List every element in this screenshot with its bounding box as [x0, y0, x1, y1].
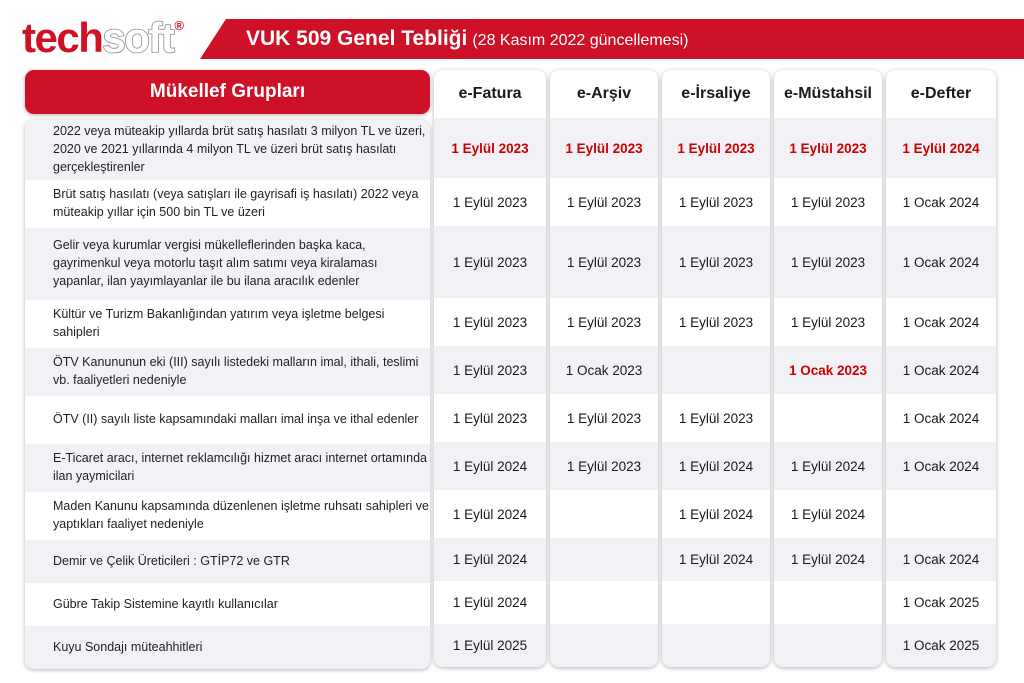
logo-text-tech: tech — [22, 17, 102, 59]
date-cell — [662, 346, 770, 394]
date-cell — [662, 581, 770, 624]
column-e-defter: e-Defter 1 Eylül 20241 Ocak 20241 Ocak 2… — [886, 70, 996, 667]
date-cell: 1 Eylül 2023 — [434, 226, 546, 298]
table-row: E-Ticaret aracı, internet reklamcılığı h… — [25, 444, 430, 492]
date-cell: 1 Eylül 2023 — [434, 298, 546, 346]
date-cell: 1 Ocak 2023 — [774, 346, 882, 394]
title-banner: VUK 509 Genel Tebliği(28 Kasım 2022 günc… — [200, 19, 1024, 59]
date-cell — [550, 490, 658, 538]
group-label: 2022 veya müteakip yıllarda brüt satış h… — [53, 123, 430, 176]
date-cell: 1 Eylül 2023 — [774, 298, 882, 346]
date-cell: 1 Eylül 2024 — [662, 538, 770, 581]
date-cell: 1 Eylül 2024 — [662, 490, 770, 538]
cells-e-mustahsil: 1 Eylül 20231 Eylül 20231 Eylül 20231 Ey… — [774, 118, 882, 667]
registered-mark-icon: ® — [174, 19, 182, 32]
table-row: Demir ve Çelik Üreticileri : GTİP72 ve G… — [25, 540, 430, 583]
column-header-e-irsaliye: e-İrsaliye — [662, 70, 770, 118]
column-card-e-defter: e-Defter 1 Eylül 20241 Ocak 20241 Ocak 2… — [886, 70, 996, 667]
column-e-arsiv: e-Arşiv 1 Eylül 20231 Eylül 20231 Eylül … — [550, 70, 658, 667]
techsoft-logo: techsoft® — [22, 17, 182, 57]
cells-e-fatura: 1 Eylül 20231 Eylül 20231 Eylül 20231 Ey… — [434, 118, 546, 667]
cells-e-arsiv: 1 Eylül 20231 Eylül 20231 Eylül 20231 Ey… — [550, 118, 658, 667]
page-title-main: VUK 509 Genel Tebliği — [246, 27, 467, 50]
table-row: Kuyu Sondajı müteahhitleri — [25, 626, 430, 669]
date-cell: 1 Ocak 2023 — [550, 346, 658, 394]
date-cell: 1 Eylül 2023 — [434, 178, 546, 226]
date-cell: 1 Eylül 2024 — [434, 538, 546, 581]
column-header-e-defter: e-Defter — [886, 70, 996, 118]
group-label: E-Ticaret aracı, internet reklamcılığı h… — [53, 450, 430, 486]
date-cell: 1 Ocak 2024 — [886, 346, 996, 394]
group-label: ÖTV (II) sayılı liste kapsamındaki malla… — [53, 411, 418, 429]
column-header-mukellef-gruplari: Mükellef Grupları — [25, 70, 430, 114]
table-row: 2022 veya müteakip yıllarda brüt satış h… — [25, 120, 430, 180]
column-header-e-mustahsil: e-Müstahsil — [774, 70, 882, 118]
group-label: Brüt satış hasılatı (veya satışları ile … — [53, 186, 430, 222]
date-cell — [662, 624, 770, 667]
date-cell — [774, 581, 882, 624]
date-cell: 1 Eylül 2024 — [434, 581, 546, 624]
column-header-e-arsiv: e-Arşiv — [550, 70, 658, 118]
cells-e-irsaliye: 1 Eylül 20231 Eylül 20231 Eylül 20231 Ey… — [662, 118, 770, 667]
date-cell: 1 Ocak 2024 — [886, 298, 996, 346]
date-cell: 1 Eylül 2023 — [434, 118, 546, 178]
date-cell: 1 Eylül 2023 — [662, 118, 770, 178]
date-cell — [774, 394, 882, 442]
date-cell: 1 Eylül 2024 — [774, 490, 882, 538]
column-card-e-irsaliye: e-İrsaliye 1 Eylül 20231 Eylül 20231 Eyl… — [662, 70, 770, 667]
column-card-e-mustahsil: e-Müstahsil 1 Eylül 20231 Eylül 20231 Ey… — [774, 70, 882, 667]
group-label: Gübre Takip Sistemine kayıtlı kullanıcıl… — [53, 596, 278, 614]
table-row: Brüt satış hasılatı (veya satışları ile … — [25, 180, 430, 228]
date-cell: 1 Eylül 2024 — [774, 442, 882, 490]
date-cell: 1 Eylül 2023 — [774, 178, 882, 226]
group-label: Demir ve Çelik Üreticileri : GTİP72 ve G… — [53, 553, 290, 571]
group-label: ÖTV Kanununun eki (III) sayılı listedeki… — [53, 354, 430, 390]
group-label: Kültür ve Turizm Bakanlığından yatırım v… — [53, 306, 430, 342]
date-cell: 1 Ocak 2024 — [886, 178, 996, 226]
column-card-e-fatura: e-Fatura 1 Eylül 20231 Eylül 20231 Eylül… — [434, 70, 546, 667]
date-cell — [550, 581, 658, 624]
date-cell — [550, 538, 658, 581]
table-row: Gübre Takip Sistemine kayıtlı kullanıcıl… — [25, 583, 430, 626]
date-cell — [550, 624, 658, 667]
date-cell: 1 Ocak 2025 — [886, 624, 996, 667]
date-cell: 1 Eylül 2024 — [434, 442, 546, 490]
table-row: Maden Kanunu kapsamında düzenlenen işlet… — [25, 492, 430, 540]
date-cell: 1 Eylül 2023 — [434, 346, 546, 394]
date-cell: 1 Eylül 2023 — [662, 178, 770, 226]
date-cell: 1 Eylül 2025 — [434, 624, 546, 667]
date-cell: 1 Eylül 2023 — [774, 118, 882, 178]
table-row: Gelir veya kurumlar vergisi mükellefleri… — [25, 228, 430, 300]
date-cell: 1 Eylül 2023 — [550, 226, 658, 298]
date-cell: 1 Ocak 2024 — [886, 538, 996, 581]
group-label: Kuyu Sondajı müteahhitleri — [53, 639, 202, 657]
logo-text-soft: soft — [102, 17, 173, 59]
date-cell: 1 Eylül 2024 — [434, 490, 546, 538]
date-cell: 1 Eylül 2024 — [662, 442, 770, 490]
date-cell: 1 Ocak 2024 — [886, 394, 996, 442]
date-cell — [886, 490, 996, 538]
column-e-mustahsil: e-Müstahsil 1 Eylül 20231 Eylül 20231 Ey… — [774, 70, 882, 667]
groups-body: 2022 veya müteakip yıllarda brüt satış h… — [25, 120, 430, 669]
page-header: techsoft® VUK 509 Genel Tebliği(28 Kasım… — [0, 0, 1024, 70]
date-cell: 1 Eylül 2023 — [662, 298, 770, 346]
date-cell: 1 Eylül 2023 — [550, 178, 658, 226]
date-cell: 1 Ocak 2025 — [886, 581, 996, 624]
date-cell: 1 Ocak 2024 — [886, 442, 996, 490]
group-label: Gelir veya kurumlar vergisi mükellefleri… — [53, 237, 430, 290]
date-cell — [774, 624, 882, 667]
column-e-irsaliye: e-İrsaliye 1 Eylül 20231 Eylül 20231 Eyl… — [662, 70, 770, 667]
table-row: ÖTV Kanununun eki (III) sayılı listedeki… — [25, 348, 430, 396]
column-e-fatura: e-Fatura 1 Eylül 20231 Eylül 20231 Eylül… — [434, 70, 546, 667]
date-cell: 1 Eylül 2023 — [550, 394, 658, 442]
date-cell: 1 Eylül 2023 — [550, 442, 658, 490]
date-cell: 1 Ocak 2024 — [886, 226, 996, 298]
compliance-table: Mükellef Grupları 2022 veya müteakip yıl… — [0, 70, 1024, 683]
page-title: VUK 509 Genel Tebliği(28 Kasım 2022 günc… — [246, 27, 688, 51]
date-cell: 1 Eylül 2023 — [550, 298, 658, 346]
group-label: Maden Kanunu kapsamında düzenlenen işlet… — [53, 498, 430, 534]
date-cell: 1 Eylül 2023 — [550, 118, 658, 178]
date-cell: 1 Eylül 2023 — [434, 394, 546, 442]
column-header-e-fatura: e-Fatura — [434, 70, 546, 118]
page-root: techsoft® VUK 509 Genel Tebliği(28 Kasım… — [0, 0, 1024, 683]
date-cell: 1 Eylül 2023 — [662, 226, 770, 298]
table-row: Kültür ve Turizm Bakanlığından yatırım v… — [25, 300, 430, 348]
date-cell: 1 Eylül 2024 — [886, 118, 996, 178]
date-cell: 1 Eylül 2024 — [774, 538, 882, 581]
column-card-e-arsiv: e-Arşiv 1 Eylül 20231 Eylül 20231 Eylül … — [550, 70, 658, 667]
table-row: ÖTV (II) sayılı liste kapsamındaki malla… — [25, 396, 430, 444]
date-cell: 1 Eylül 2023 — [662, 394, 770, 442]
page-title-subtitle: (28 Kasım 2022 güncellemesi) — [472, 32, 688, 49]
date-cell: 1 Eylül 2023 — [774, 226, 882, 298]
column-mukellef-gruplari: Mükellef Grupları 2022 veya müteakip yıl… — [25, 70, 430, 669]
cells-e-defter: 1 Eylül 20241 Ocak 20241 Ocak 20241 Ocak… — [886, 118, 996, 667]
